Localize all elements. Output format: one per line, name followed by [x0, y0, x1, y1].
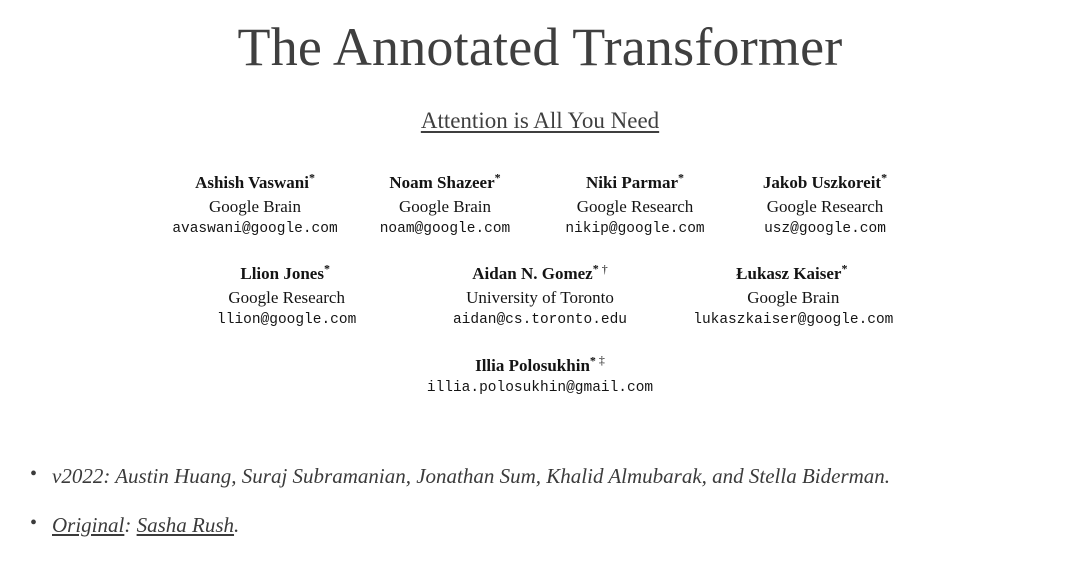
- author-email: illia.polosukhin@gmail.com: [164, 378, 916, 400]
- author-email: avaswani@google.com: [164, 219, 346, 241]
- author-entry: Jakob Uszkoreit* Google Research usz@goo…: [730, 172, 920, 240]
- author-list: Ashish Vaswani* Google Brain avaswani@go…: [0, 172, 1080, 400]
- original-link[interactable]: Original: [52, 513, 124, 537]
- credit-contributors: Austin Huang, Suraj Subramanian, Jonatha…: [110, 464, 890, 488]
- author-affiliation: University of Toronto: [417, 286, 662, 310]
- author-footnote-mark: *: [841, 262, 847, 276]
- author-footnote-mark-2: ‡: [599, 353, 605, 367]
- author-entry: Noam Shazeer* Google Brain noam@google.c…: [350, 172, 540, 240]
- author-name: Illia Polosukhin*‡: [164, 355, 916, 378]
- author-affiliation: Google Research: [164, 286, 409, 310]
- author-email: lukaszkaiser@google.com: [671, 310, 916, 332]
- author-entry: Niki Parmar* Google Research nikip@googl…: [540, 172, 730, 240]
- author-name: Niki Parmar*: [544, 172, 726, 195]
- paper-link[interactable]: Attention is All You Need: [421, 108, 659, 133]
- author-name-text: Jakob Uszkoreit: [763, 173, 881, 192]
- author-email: aidan@cs.toronto.edu: [417, 310, 662, 332]
- author-footnote-mark-2: †: [602, 262, 608, 276]
- author-email: usz@google.com: [734, 219, 916, 241]
- list-item: v2022: Austin Huang, Suraj Subramanian, …: [0, 466, 1080, 487]
- author-row: Ashish Vaswani* Google Brain avaswani@go…: [160, 172, 920, 240]
- author-name-text: Niki Parmar: [586, 173, 678, 192]
- credit-separator: :: [124, 513, 136, 537]
- author-affiliation: Google Research: [734, 195, 916, 219]
- author-name-text: Ashish Vaswani: [195, 173, 309, 192]
- author-name: Llion Jones*: [164, 263, 409, 286]
- author-name-text: Llion Jones: [240, 264, 324, 283]
- credit-trailing-period: .: [234, 513, 239, 537]
- author-affiliation: Google Research: [544, 195, 726, 219]
- author-footnote-mark: *: [495, 170, 501, 184]
- author-name: Noam Shazeer*: [354, 172, 536, 195]
- author-name: Ashish Vaswani*: [164, 172, 346, 195]
- author-entry: Llion Jones* Google Research llion@googl…: [160, 263, 413, 331]
- author-email: nikip@google.com: [544, 219, 726, 241]
- author-name: Łukasz Kaiser*: [671, 263, 916, 286]
- author-entry: Ashish Vaswani* Google Brain avaswani@go…: [160, 172, 350, 240]
- author-email: llion@google.com: [164, 310, 409, 332]
- author-name: Jakob Uszkoreit*: [734, 172, 916, 195]
- author-affiliation: Google Brain: [671, 286, 916, 310]
- author-affiliation: Google Brain: [164, 195, 346, 219]
- author-link-sasha-rush[interactable]: Sasha Rush: [137, 513, 234, 537]
- author-name-text: Noam Shazeer: [389, 173, 494, 192]
- author-row: Illia Polosukhin*‡ illia.polosukhin@gmai…: [160, 355, 920, 400]
- author-email: noam@google.com: [354, 219, 536, 241]
- list-item: Original: Sasha Rush.: [0, 515, 1080, 536]
- author-row: Llion Jones* Google Research llion@googl…: [160, 263, 920, 331]
- page-root: The Annotated Transformer Attention is A…: [0, 0, 1080, 568]
- author-name-text: Illia Polosukhin: [475, 356, 590, 375]
- author-footnote-mark: *: [590, 353, 596, 367]
- author-footnote-mark: *: [881, 170, 887, 184]
- author-entry: Illia Polosukhin*‡ illia.polosukhin@gmai…: [160, 355, 920, 400]
- page-title: The Annotated Transformer: [0, 0, 1080, 74]
- author-entry: Łukasz Kaiser* Google Brain lukaszkaiser…: [667, 263, 920, 331]
- author-entry: Aidan N. Gomez*† University of Toronto a…: [413, 263, 666, 331]
- author-name-text: Aidan N. Gomez: [472, 264, 592, 283]
- credits-list: v2022: Austin Huang, Suraj Subramanian, …: [0, 466, 1080, 564]
- author-name: Aidan N. Gomez*†: [417, 263, 662, 286]
- author-name-text: Łukasz Kaiser: [736, 264, 841, 283]
- author-footnote-mark: *: [309, 170, 315, 184]
- paper-link-container: Attention is All You Need: [0, 108, 1080, 134]
- author-affiliation: Google Brain: [354, 195, 536, 219]
- author-footnote-mark: *: [593, 262, 599, 276]
- author-footnote-mark: *: [678, 170, 684, 184]
- author-footnote-mark: *: [324, 262, 330, 276]
- credit-version-label: v2022:: [52, 464, 110, 488]
